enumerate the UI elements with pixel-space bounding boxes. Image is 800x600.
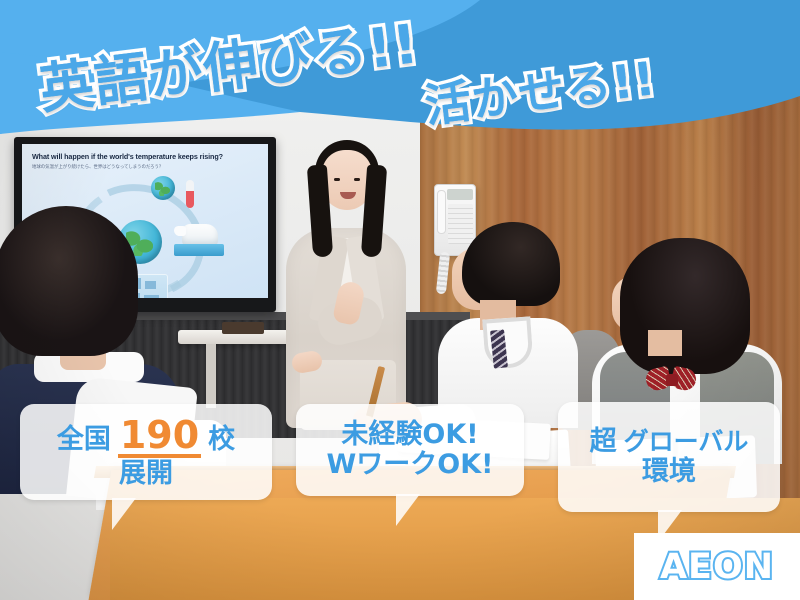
bubble3-pre: 超 (590, 428, 617, 456)
bubble1-pre: 全国 (57, 426, 111, 454)
bubble-global: 超 グローバル 環境 (558, 402, 780, 512)
headline-group: 英語が伸びる!! 英語が伸びる!! 活かせる!! 活かせる!! (0, 0, 800, 160)
poster-root: What will happen if the world's temperat… (0, 0, 800, 600)
headline-line-2-fill: 活かせる!! (421, 42, 659, 136)
bubble2-tail (396, 494, 420, 526)
bubble1-number: 190 (118, 416, 201, 458)
aeon-logo-text: AEON (660, 547, 774, 587)
headline-line-1-fill: 英語が伸びる!! (35, 0, 423, 124)
bubble3-line2: 環境 (642, 458, 696, 486)
aeon-logo-box: AEON (634, 533, 800, 600)
bubble1-tail (112, 498, 136, 530)
bubble3-post: グローバル (624, 429, 749, 455)
bubble1-post: 校 (208, 426, 235, 454)
bubble1-line2: 展開 (119, 460, 173, 488)
bubble-nationwide: 全国 190 校 展開 (20, 404, 272, 500)
bubble-no-experience: 未経験OK! WワークOK! (296, 404, 524, 496)
bubble2-line1: 未経験OK! (341, 421, 478, 449)
bubble2-line2: WワークOK! (327, 451, 494, 479)
